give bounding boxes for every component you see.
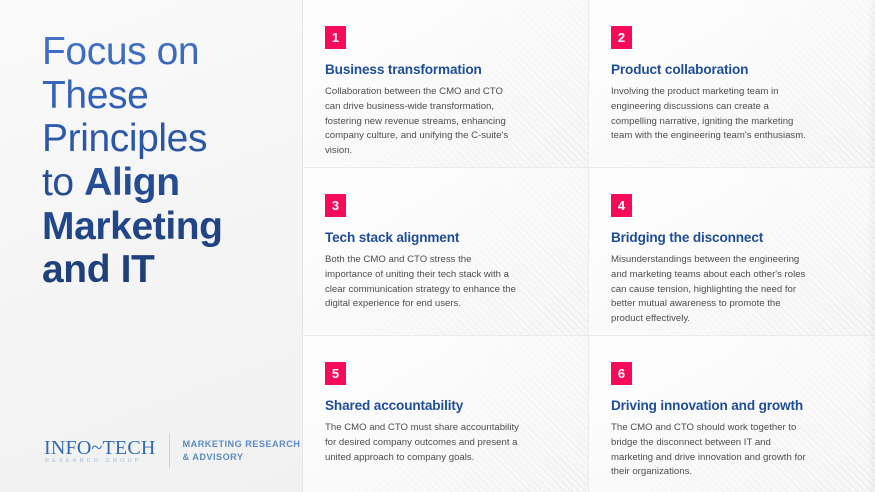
principle-title: Bridging the disconnect (611, 230, 845, 246)
principle-card-4: 4 Bridging the disconnect Misunderstandi… (589, 168, 875, 336)
left-title-panel: Focus on These Principles to Align Marke… (0, 0, 303, 492)
principle-card-3: 3 Tech stack alignment Both the CMO and … (303, 168, 589, 336)
headline-line-5-bold: Marketing (42, 205, 223, 248)
logo-subtext: RESEARCH GROUP (44, 459, 156, 465)
principle-number-badge: 4 (611, 194, 632, 217)
headline-line-3: Principles (42, 117, 207, 160)
principle-number-badge: 1 (325, 26, 346, 49)
principle-title: Driving innovation and growth (611, 398, 845, 414)
principle-title: Tech stack alignment (325, 230, 558, 246)
headline-line-6-bold: and IT (42, 248, 154, 291)
page-title: Focus on These Principles to Align Marke… (42, 30, 282, 292)
headline-line-1: Focus on (42, 30, 199, 73)
principle-number-badge: 3 (325, 194, 346, 217)
principle-title: Business transformation (325, 62, 558, 78)
principle-body: Collaboration between the CMO and CTO ca… (325, 85, 521, 158)
principle-title: Product collaboration (611, 62, 845, 78)
headline-line-4-light: to (42, 161, 84, 204)
principle-body: Misunderstandings between the engineerin… (611, 253, 807, 326)
logo-wordmark: INFO~TECH (44, 438, 156, 458)
principle-card-1: 1 Business transformation Collaboration … (303, 0, 589, 168)
principle-number-badge: 2 (611, 26, 632, 49)
principle-number-badge: 6 (611, 362, 632, 385)
infographic-root: Focus on These Principles to Align Marke… (0, 0, 875, 492)
logo-mark: INFO~TECH RESEARCH GROUP (44, 438, 156, 465)
principle-body: Both the CMO and CTO stress the importan… (325, 253, 521, 312)
info-tech-logo: INFO~TECH RESEARCH GROUP MARKETING RESEA… (44, 434, 300, 468)
principle-number-badge: 5 (325, 362, 346, 385)
principle-body: Involving the product marketing team in … (611, 85, 807, 144)
logo-tagline: MARKETING RESEARCH & ADVISORY (183, 438, 301, 465)
principle-body: The CMO and CTO should work together to … (611, 421, 807, 480)
principle-card-5: 5 Shared accountability The CMO and CTO … (303, 336, 589, 492)
principle-card-6: 6 Driving innovation and growth The CMO … (589, 336, 875, 492)
logo-tagline-line-2: & ADVISORY (183, 452, 244, 462)
logo-divider (169, 434, 170, 468)
headline-line-4-bold: Align (84, 161, 179, 204)
principles-grid: 1 Business transformation Collaboration … (303, 0, 875, 492)
principle-card-2: 2 Product collaboration Involving the pr… (589, 0, 875, 168)
principle-title: Shared accountability (325, 398, 558, 414)
headline-line-2: These (42, 74, 148, 117)
logo-tagline-line-1: MARKETING RESEARCH (183, 439, 301, 449)
principle-body: The CMO and CTO must share accountabilit… (325, 421, 521, 465)
